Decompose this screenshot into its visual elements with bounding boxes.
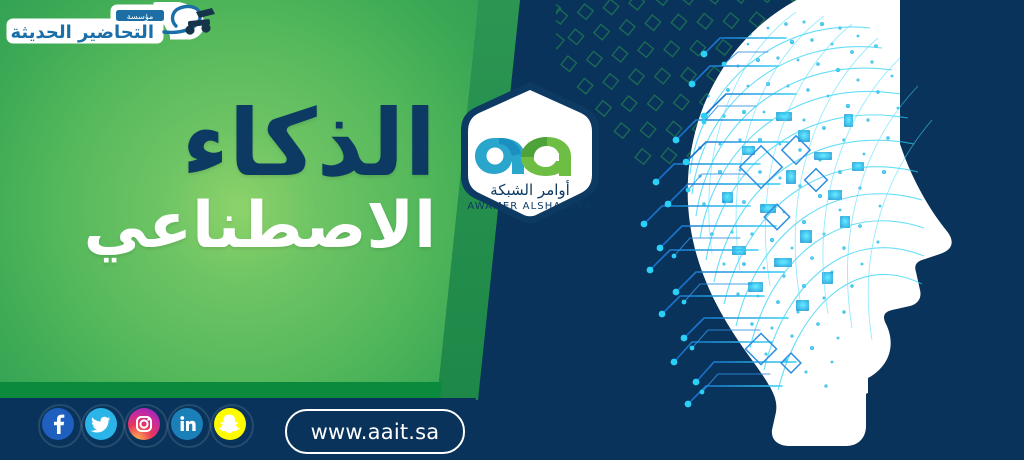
- brand-logo-latin-name: AWAMER ALSHABAKA: [467, 201, 592, 212]
- website-url-button[interactable]: www.aait.sa: [285, 409, 465, 454]
- social-link-facebook[interactable]: [42, 408, 74, 440]
- social-link-snapchat[interactable]: [214, 408, 246, 440]
- page-title: الذكاء الاصطناعي: [0, 96, 452, 264]
- ai-head-circuit-graphic: [600, 0, 1024, 460]
- establishment-logo-subtext: مؤسسة: [127, 12, 154, 21]
- website-url-label: www.aait.sa: [311, 420, 440, 444]
- ai-promo-banner: مؤسسة التحاضير الحديثة الذكاء الاصطناعي: [0, 0, 1024, 460]
- social-link-twitter[interactable]: [85, 408, 117, 440]
- headline-line-2: الاصطناعي: [0, 188, 452, 264]
- establishment-logo[interactable]: مؤسسة التحاضير الحديثة: [4, 2, 218, 46]
- establishment-logo-wordmark: التحاضير الحديثة: [10, 22, 154, 43]
- social-links: [42, 408, 246, 440]
- twitter-ring: [81, 404, 125, 448]
- green-panel-footer-strip: [0, 382, 470, 400]
- snapchat-ring: [210, 404, 254, 448]
- linkedin-ring: [167, 404, 211, 448]
- brand-logo[interactable]: أوامر الشبكة AWAMER ALSHABAKA: [455, 80, 605, 225]
- facebook-ring: [38, 404, 82, 448]
- social-link-instagram[interactable]: [128, 408, 160, 440]
- instagram-ring: [124, 404, 168, 448]
- headline-line-1: الذكاء: [0, 96, 452, 192]
- social-link-linkedin[interactable]: [171, 408, 203, 440]
- brand-logo-arabic-name: أوامر الشبكة: [490, 180, 570, 199]
